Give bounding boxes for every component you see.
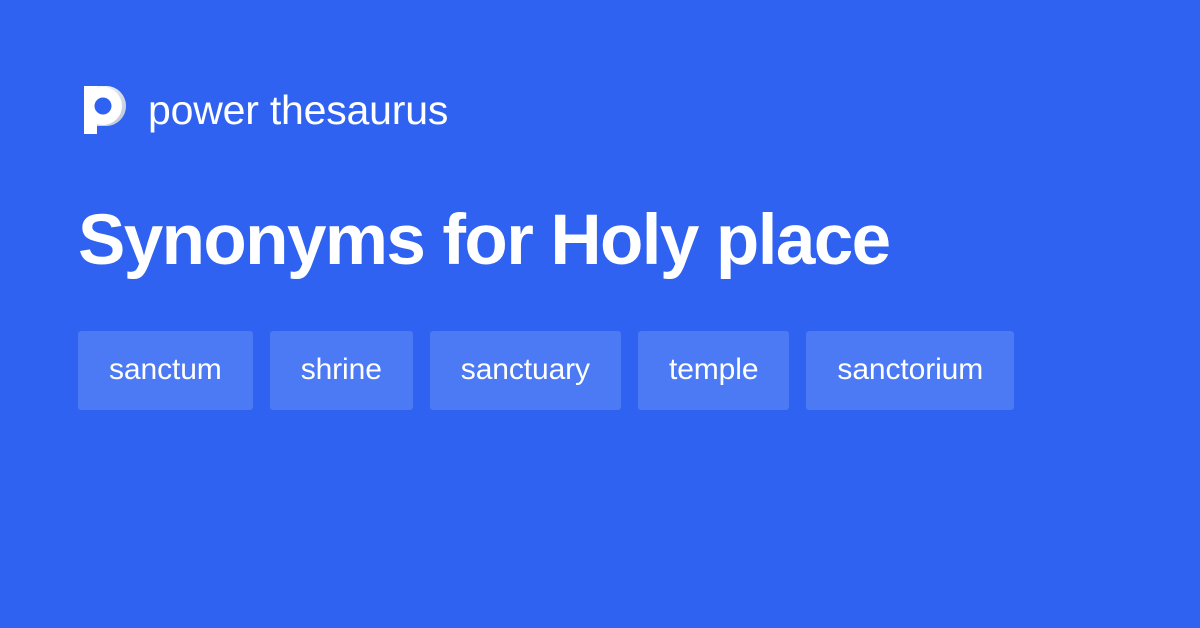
power-thesaurus-b-mark-icon — [78, 82, 126, 138]
brand-name: power thesaurus — [148, 90, 448, 131]
share-card: power thesaurus Synonyms for Holy place … — [0, 0, 1200, 628]
page-title: Synonyms for Holy place — [78, 204, 1122, 278]
synonym-chip[interactable]: sanctuary — [430, 331, 621, 410]
brand-header: power thesaurus — [78, 78, 1122, 142]
synonym-chip[interactable]: shrine — [270, 331, 413, 410]
synonym-chip[interactable]: sanctorium — [806, 331, 1014, 410]
synonym-chip[interactable]: temple — [638, 331, 789, 410]
synonym-chip-list: sanctum shrine sanctuary temple sanctori… — [78, 331, 1078, 410]
synonym-chip[interactable]: sanctum — [78, 331, 253, 410]
